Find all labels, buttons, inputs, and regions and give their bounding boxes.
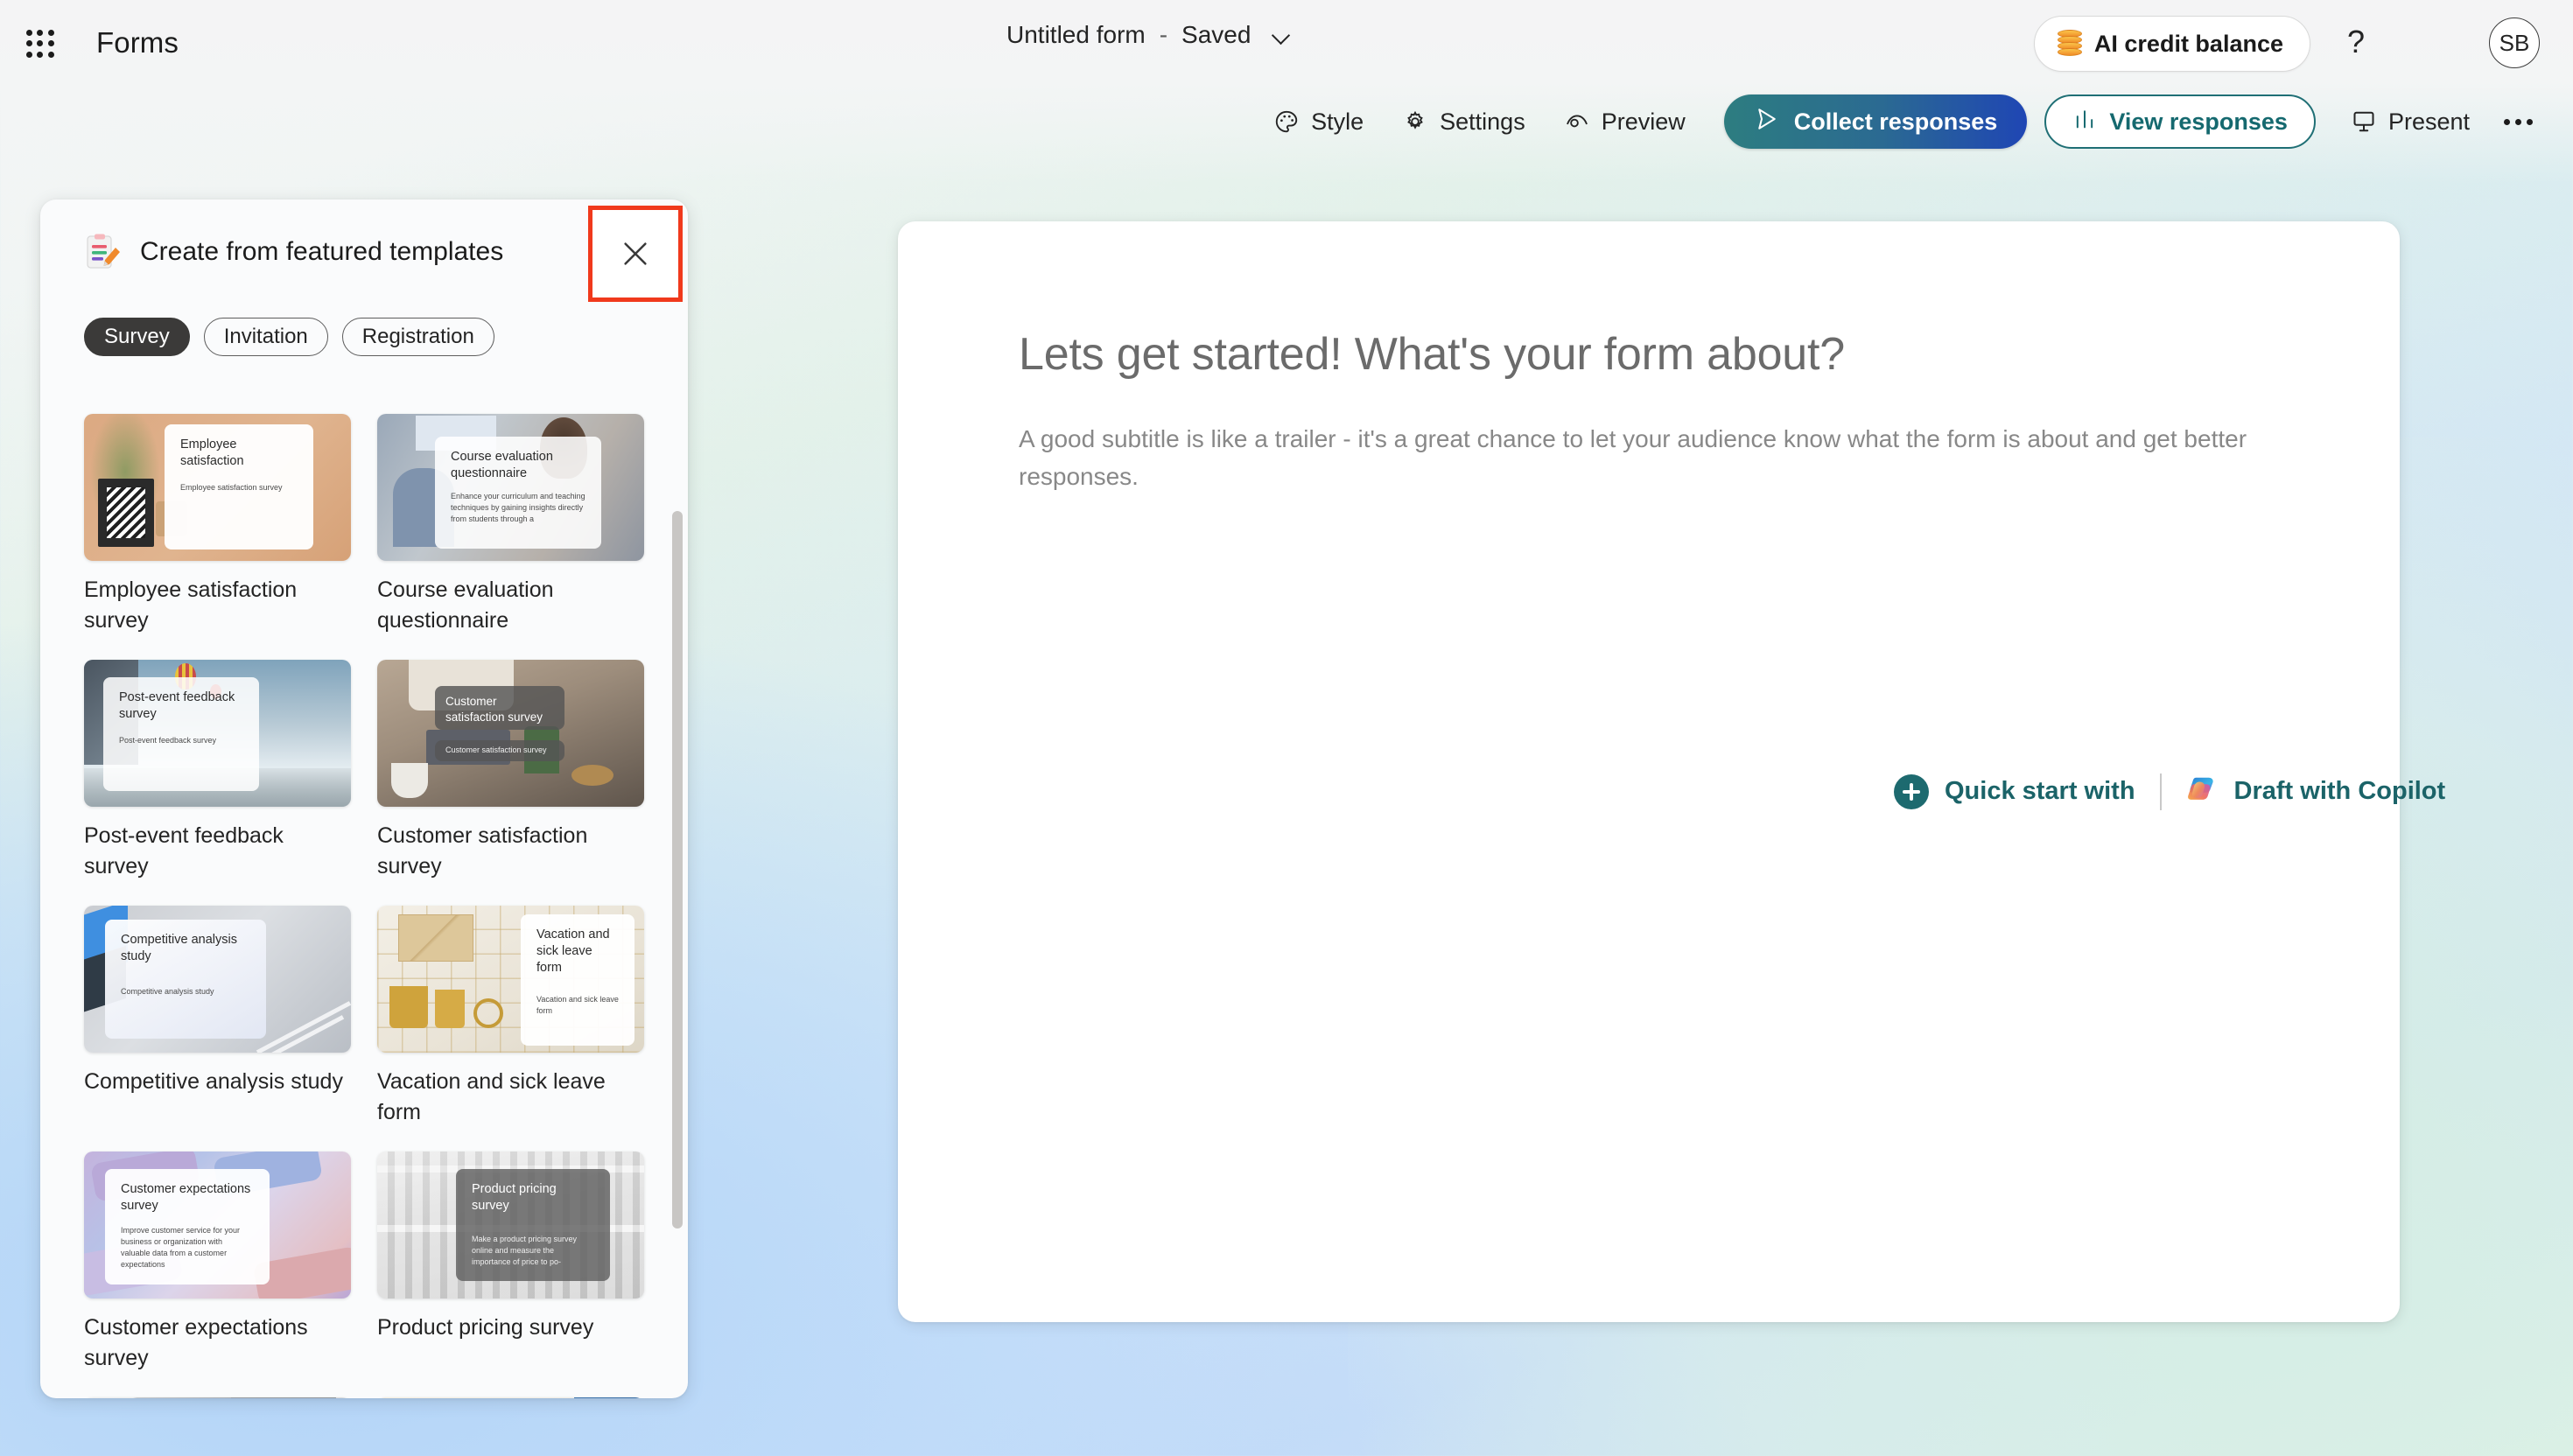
draft-with-copilot-label: Draft with Copilot — [2234, 777, 2446, 806]
close-x-icon — [617, 235, 654, 272]
template-name[interactable]: Customer expectations survey — [84, 1312, 351, 1373]
avatar-initials: SB — [2499, 30, 2530, 57]
close-templates-panel-button[interactable] — [588, 206, 683, 302]
template-overlay-desc: Vacation and sick leave form — [536, 994, 619, 1017]
command-bar: Style Settings Preview Collect responses — [1254, 90, 2541, 153]
template-name[interactable]: Course evaluation questionnaire — [377, 575, 644, 635]
templates-scrollbar[interactable] — [672, 511, 683, 1228]
template-thumbnail[interactable]: Course evaluation questionnaire Enhance … — [377, 414, 644, 561]
preview-button[interactable]: Preview — [1545, 97, 1705, 146]
template-card[interactable]: Competitive analysis study Competitive a… — [84, 906, 351, 1127]
top-bar: Forms Untitled form - Saved AI credit ba… — [0, 0, 2573, 87]
template-overlay: Product pricing survey Make a product pr… — [456, 1169, 610, 1281]
template-overlay-desc: Improve customer service for your busine… — [121, 1225, 254, 1270]
form-quick-actions: Quick start with — [1894, 773, 2445, 810]
template-card[interactable]: Customer satisfaction survey Customer sa… — [377, 660, 644, 881]
template-name[interactable]: Product pricing survey — [377, 1312, 644, 1343]
save-status: Saved — [1181, 21, 1251, 49]
template-thumbnail[interactable]: New product survey — [84, 1397, 351, 1398]
settings-button[interactable]: Settings — [1383, 97, 1545, 146]
template-card[interactable]: New product survey — [84, 1397, 351, 1398]
eye-icon — [1564, 108, 1590, 135]
chevron-down-icon[interactable] — [1272, 25, 1291, 45]
collect-responses-label: Collect responses — [1794, 108, 1998, 136]
gear-icon — [1402, 108, 1428, 135]
template-category-chips: Survey Invitation Registration — [84, 318, 494, 356]
preview-label: Preview — [1602, 108, 1686, 136]
template-overlay-title: Post-event feedback survey — [119, 689, 243, 723]
document-title-area[interactable]: Untitled form - Saved — [1006, 21, 1291, 49]
presentation-screen-icon — [2351, 108, 2377, 135]
template-card[interactable]: Post-event feedback survey Post-event fe… — [84, 660, 351, 881]
question-mark-icon[interactable]: ? — [2333, 19, 2379, 65]
templates-scroll-area[interactable]: Employee satisfaction Employee satisfact… — [40, 379, 688, 1398]
template-overlay: Employee satisfaction Employee satisfact… — [165, 424, 313, 549]
template-overlay-desc-box: Customer satisfaction survey — [435, 740, 564, 761]
draft-with-copilot-button[interactable]: Draft with Copilot — [2186, 773, 2446, 810]
ai-credit-balance-label: AI credit balance — [2094, 31, 2283, 58]
template-overlay-desc: Customer satisfaction survey — [445, 745, 554, 756]
chip-registration-label: Registration — [362, 325, 474, 349]
chip-registration[interactable]: Registration — [342, 318, 494, 356]
template-overlay-desc: Competitive analysis study — [121, 986, 250, 997]
settings-label: Settings — [1440, 108, 1525, 136]
template-overlay-title: Vacation and sick leave form — [536, 927, 619, 976]
form-title[interactable]: Lets get started! What's your form about… — [1019, 328, 1845, 381]
view-responses-button[interactable]: View responses — [2044, 94, 2316, 149]
quick-start-button[interactable]: Quick start with — [1894, 774, 2135, 809]
template-thumbnail[interactable]: Employee satisfaction Employee satisfact… — [84, 414, 351, 561]
present-button[interactable]: Present — [2331, 97, 2489, 146]
help-label: ? — [2347, 24, 2365, 60]
chip-invitation-label: Invitation — [224, 325, 308, 349]
template-card[interactable]: Market re-search survey — [377, 1397, 644, 1398]
template-overlay: Customer expectations survey Improve cus… — [105, 1169, 270, 1284]
template-thumbnail[interactable]: Vacation and sick leave form Vacation an… — [377, 906, 644, 1053]
app-title: Forms — [96, 26, 179, 59]
send-icon — [1754, 106, 1780, 138]
style-label: Style — [1311, 108, 1364, 136]
template-overlay: Course evaluation questionnaire Enhance … — [435, 437, 601, 549]
template-thumbnail[interactable]: Customer satisfaction survey Customer sa… — [377, 660, 644, 807]
template-overlay-title: Customer expectations survey — [121, 1181, 254, 1214]
avatar[interactable]: SB — [2489, 17, 2540, 68]
copilot-icon — [2186, 773, 2219, 810]
form-editor-card: Lets get started! What's your form about… — [898, 221, 2400, 1322]
coin-stack-icon — [2058, 30, 2082, 58]
action-divider — [2160, 773, 2162, 810]
template-overlay-desc: Make a product pricing survey online and… — [472, 1234, 594, 1267]
template-name[interactable]: Vacation and sick leave form — [377, 1067, 644, 1127]
collect-responses-button[interactable]: Collect responses — [1724, 94, 2028, 149]
template-name[interactable]: Post-event feedback survey — [84, 821, 351, 881]
template-overlay-title: Course evaluation questionnaire — [451, 449, 585, 482]
template-overlay: Post-event feedback survey Post-event fe… — [103, 677, 259, 791]
style-button[interactable]: Style — [1254, 97, 1383, 146]
template-thumbnail[interactable]: Product pricing survey Make a product pr… — [377, 1151, 644, 1298]
template-card[interactable]: Product pricing survey Make a product pr… — [377, 1151, 644, 1373]
template-thumbnail[interactable]: Post-event feedback survey Post-event fe… — [84, 660, 351, 807]
template-overlay-desc: Post-event feedback survey — [119, 735, 243, 746]
template-overlay: Competitive analysis study Competitive a… — [105, 920, 266, 1039]
template-name[interactable]: Competitive analysis study — [84, 1067, 351, 1097]
chip-survey-label: Survey — [104, 325, 170, 349]
ellipsis-icon[interactable] — [2494, 98, 2541, 145]
template-overlay-title: Competitive analysis study — [121, 932, 250, 965]
template-name[interactable]: Customer satisfaction survey — [377, 821, 644, 881]
template-thumbnail[interactable]: Customer expectations survey Improve cus… — [84, 1151, 351, 1298]
template-overlay-desc: Employee satisfaction survey — [180, 482, 298, 493]
chip-survey[interactable]: Survey — [84, 318, 190, 356]
chip-invitation[interactable]: Invitation — [204, 318, 328, 356]
template-name[interactable]: Employee satisfaction survey — [84, 575, 351, 635]
templates-panel-title: Create from featured templates — [140, 237, 503, 267]
clipboard-pencil-icon — [84, 232, 123, 272]
template-overlay: Vacation and sick leave form Vacation an… — [521, 914, 634, 1046]
ai-credit-balance-button[interactable]: AI credit balance — [2034, 16, 2310, 72]
template-overlay-title: Customer satisfaction survey — [445, 694, 554, 725]
template-card[interactable]: Customer expectations survey Improve cus… — [84, 1151, 351, 1373]
quick-start-label: Quick start with — [1945, 777, 2135, 806]
template-thumbnail[interactable]: Market re-search survey — [377, 1397, 644, 1398]
present-label: Present — [2388, 108, 2470, 136]
template-card[interactable]: Course evaluation questionnaire Enhance … — [377, 414, 644, 635]
app-launcher-grid-icon[interactable] — [23, 26, 58, 61]
plus-circle-icon — [1894, 774, 1929, 809]
document-title: Untitled form — [1006, 21, 1146, 49]
view-responses-label: View responses — [2109, 108, 2288, 136]
title-separator: - — [1160, 21, 1167, 49]
bar-chart-icon — [2072, 107, 2097, 137]
template-overlay-title: Product pricing survey — [472, 1181, 594, 1214]
template-thumbnail[interactable]: Competitive analysis study Competitive a… — [84, 906, 351, 1053]
templates-grid: Employee satisfaction Employee satisfact… — [40, 379, 688, 1398]
form-subtitle[interactable]: A good subtitle is like a trailer - it's… — [1019, 421, 2279, 495]
featured-templates-panel: Create from featured templates Survey In… — [40, 199, 688, 1398]
template-overlay-title: Employee satisfaction — [180, 437, 298, 470]
template-card[interactable]: Vacation and sick leave form Vacation an… — [377, 906, 644, 1127]
palette-icon — [1273, 108, 1300, 135]
template-overlay: Customer satisfaction survey — [435, 686, 564, 730]
template-card[interactable]: Employee satisfaction Employee satisfact… — [84, 414, 351, 635]
template-overlay-desc: Enhance your curriculum and teaching tec… — [451, 491, 585, 524]
